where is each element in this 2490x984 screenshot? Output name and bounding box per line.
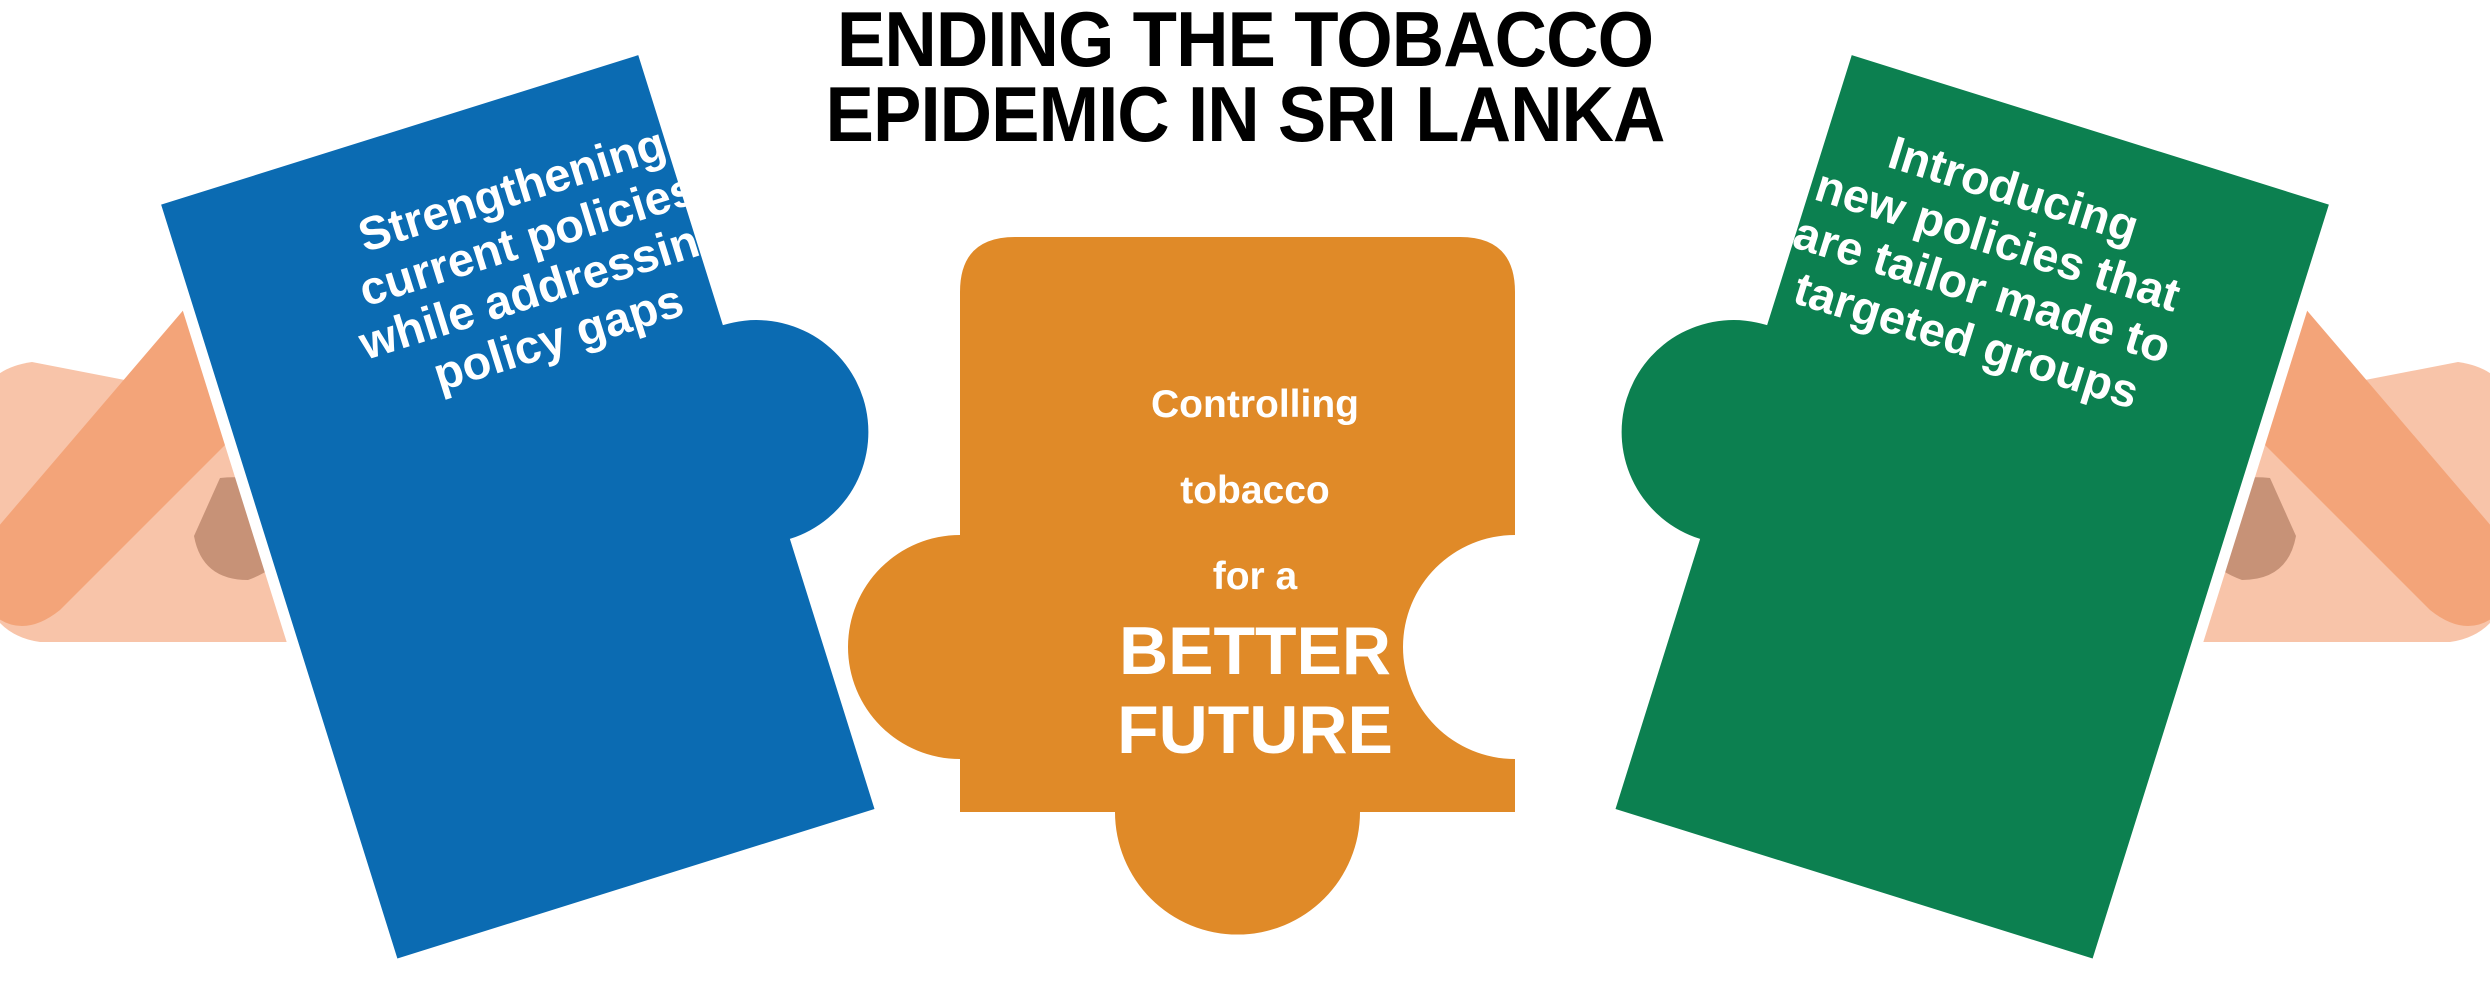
- infographic-canvas: Strengthening current policies while add…: [0, 0, 2490, 984]
- orange-piece-body: [848, 237, 1515, 935]
- puzzle-piece-center-orange[interactable]: [930, 210, 1590, 984]
